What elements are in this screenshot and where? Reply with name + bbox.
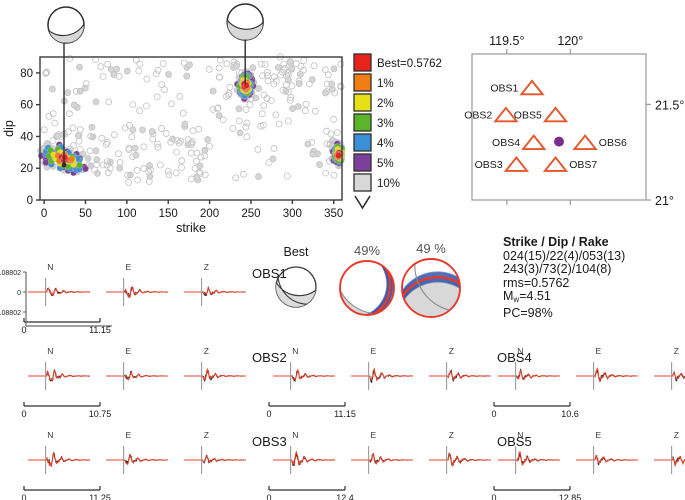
misfit-point — [188, 176, 194, 182]
waveform-station-obs1: NEZOBS1011.15 — [21, 262, 286, 335]
x-tick-label: 250 — [241, 208, 260, 220]
misfit-point — [170, 136, 176, 142]
amplitude-tick-label: 0.08802 — [0, 270, 21, 277]
time-zero-label: 0 — [266, 493, 271, 500]
misfit-point — [241, 171, 247, 177]
misfit-point — [49, 86, 55, 92]
misfit-point — [165, 168, 171, 174]
grid-search-plot: 020406080050100150200250300350strikedip — [0, 0, 360, 232]
time-zero-label: 0 — [266, 409, 271, 419]
misfit-point — [216, 113, 222, 119]
waveform-station-obs3: NEZOBS3011.25 — [21, 430, 286, 500]
misfit-point — [312, 108, 318, 114]
waveform-observed — [576, 369, 638, 382]
component-label-n: N — [517, 346, 523, 356]
time-zero-label: 0 — [491, 409, 496, 419]
misfit-point — [194, 174, 200, 180]
station-label-obs5: OBS5 — [514, 109, 542, 121]
station-name-label: OBS1 — [252, 266, 287, 281]
legend-label: 2% — [377, 98, 394, 110]
misfit-point — [317, 162, 323, 168]
misfit-point — [116, 151, 122, 157]
misfit-point — [256, 174, 262, 180]
grid-search-panel: 020406080050100150200250300350strikedip — [0, 0, 360, 232]
misfit-point — [126, 179, 132, 185]
misfit-point — [271, 145, 277, 151]
misfit-point — [217, 57, 223, 63]
misfit-point — [52, 120, 58, 126]
x-tick-label: 100 — [117, 208, 136, 220]
y-tick-label: 60 — [20, 100, 33, 112]
misfit-point — [93, 99, 99, 105]
legend-label: 4% — [377, 138, 394, 150]
misfit-point — [130, 127, 136, 133]
component-label-z: Z — [449, 430, 454, 440]
misfit-point-colored — [88, 163, 94, 169]
misfit-point — [295, 104, 301, 110]
component-label-n: N — [47, 346, 53, 356]
misfit-point — [153, 71, 159, 77]
misfit-point-colored — [69, 156, 75, 162]
time-max-label: 11.15 — [334, 409, 356, 419]
waveform-station-obs2: NEZOBS2010.75 — [21, 346, 286, 419]
x-tick-label: 300 — [283, 208, 302, 220]
misfit-point — [309, 77, 315, 83]
misfit-point — [141, 165, 147, 171]
time-max-label: 10.75 — [89, 409, 112, 419]
misfit-point-colored — [43, 160, 49, 166]
legend-label: 5% — [377, 158, 394, 170]
legend-label: 1% — [377, 78, 394, 90]
misfit-point — [116, 73, 122, 79]
misfit-point — [331, 116, 337, 122]
misfit-point — [157, 162, 163, 168]
misfit-point — [124, 68, 130, 74]
misfit-point — [160, 61, 166, 67]
station-label-obs2: OBS2 — [464, 109, 492, 121]
misfit-point — [89, 124, 95, 130]
misfit-point — [169, 101, 175, 107]
misfit-point — [289, 66, 295, 72]
y-tick-label: 20 — [20, 163, 33, 175]
legend-swatch — [354, 154, 371, 171]
component-label-e: E — [125, 262, 131, 272]
misfit-point — [166, 71, 172, 77]
misfit-point — [325, 72, 331, 78]
y-axis-label: dip — [2, 120, 16, 137]
misfit-point — [117, 159, 123, 165]
waveform-grid: NEZOBS1011.15NEZOBS2010.75NEZOBS3011.25N… — [0, 248, 685, 500]
misfit-point — [133, 152, 139, 158]
y-tick-label: 0 — [27, 195, 33, 207]
misfit-point — [216, 65, 222, 71]
waveform-observed — [576, 455, 638, 463]
misfit-point — [93, 148, 99, 154]
waveform-observed — [654, 373, 685, 380]
station-label-obs4: OBS4 — [492, 137, 520, 149]
waveform-observed — [273, 452, 335, 466]
misfit-point — [205, 137, 211, 143]
time-max-label: 12.85 — [559, 493, 582, 500]
component-label-e: E — [370, 346, 376, 356]
callout-anchor — [62, 163, 67, 168]
misfit-point — [154, 94, 160, 100]
waveform-observed — [273, 370, 335, 380]
misfit-point — [323, 90, 329, 96]
y-tick-label: 80 — [20, 68, 33, 80]
misfit-point — [140, 127, 146, 133]
misfit-point — [196, 126, 202, 132]
misfit-point — [324, 128, 330, 134]
misfit-point-colored — [82, 166, 88, 172]
misfit-point — [50, 138, 56, 144]
map-lat-label: 21° — [655, 194, 674, 208]
y-tick-label: 40 — [20, 131, 33, 143]
waveform-observed — [498, 452, 560, 465]
time-zero-label: 0 — [491, 493, 496, 500]
misfit-point — [87, 148, 93, 154]
component-label-n: N — [47, 430, 53, 440]
misfit-point-colored — [85, 155, 91, 161]
misfit-point — [250, 65, 256, 71]
misfit-point — [273, 112, 279, 118]
misfit-point — [137, 108, 143, 114]
waveform-observed — [28, 288, 90, 295]
misfit-point — [132, 145, 138, 151]
component-label-e: E — [125, 430, 131, 440]
misfit-point — [149, 129, 155, 135]
waveform-observed — [498, 371, 560, 380]
misfit-point — [192, 165, 198, 171]
station-label-obs3: OBS3 — [475, 159, 503, 171]
component-label-e: E — [595, 430, 601, 440]
misfit-point — [331, 66, 337, 72]
misfit-point — [187, 62, 193, 68]
waveform-observed — [351, 454, 413, 464]
beachball-callout-right — [227, 4, 263, 40]
misfit-point — [303, 101, 309, 107]
misfit-point — [106, 99, 112, 105]
misfit-point — [117, 165, 123, 171]
misfit-point — [105, 61, 111, 67]
misfit-point — [173, 170, 179, 176]
misfit-point — [163, 131, 169, 137]
map-lon-label: 119.5° — [489, 34, 524, 48]
legend-swatch — [354, 94, 371, 111]
waveform-observed — [184, 456, 246, 462]
misfit-point — [243, 124, 249, 130]
misfit-point — [136, 68, 142, 74]
time-zero-label: 0 — [21, 409, 26, 419]
misfit-point — [301, 58, 307, 64]
misfit-point — [179, 158, 185, 164]
time-max-label: 11.25 — [89, 493, 111, 500]
time-zero-label: 0 — [21, 493, 26, 500]
misfit-point — [270, 156, 276, 162]
misfit-point — [284, 173, 290, 179]
misfit-point — [65, 90, 71, 96]
misfit-point-colored — [243, 82, 249, 88]
misfit-point — [334, 129, 340, 135]
misfit-point — [147, 173, 153, 179]
misfit-point — [182, 121, 188, 127]
misfit-point — [184, 73, 190, 79]
misfit-point — [302, 108, 308, 114]
misfit-point — [233, 175, 239, 181]
component-label-z: Z — [204, 262, 209, 272]
misfit-point — [331, 172, 337, 178]
misfit-point — [236, 118, 242, 124]
component-label-e: E — [595, 346, 601, 356]
x-tick-label: 200 — [200, 208, 219, 220]
misfit-point — [287, 59, 293, 65]
map-frame — [472, 54, 646, 200]
misfit-point — [243, 107, 249, 113]
misfit-point — [311, 63, 317, 69]
waveform-observed — [429, 454, 491, 466]
legend-swatch — [354, 114, 371, 131]
misfit-point — [75, 133, 81, 139]
waveform-observed — [351, 368, 413, 380]
waveform-synthetic — [498, 453, 560, 464]
legend-swatches: Best=0.57621%2%3%4%5%10% — [352, 50, 452, 220]
amplitude-tick-label: 0 — [17, 290, 21, 297]
misfit-point — [216, 74, 222, 80]
misfit-point — [66, 111, 72, 117]
component-label-z: Z — [204, 346, 209, 356]
legend-swatch — [354, 174, 371, 191]
component-label-z: Z — [674, 346, 679, 356]
misfit-point — [285, 118, 291, 124]
misfit-point — [177, 93, 183, 99]
component-label-n: N — [47, 262, 53, 272]
misfit-point — [296, 81, 302, 87]
legend-label: 3% — [377, 118, 394, 130]
misfit-point — [230, 125, 236, 131]
misfit-legend: Best=0.57621%2%3%4%5%10% — [352, 50, 452, 220]
component-label-e: E — [125, 346, 131, 356]
waveform-station-obs5: NEZOBS5012.4 — [266, 430, 531, 500]
component-label-z: Z — [674, 430, 679, 440]
misfit-point — [188, 150, 194, 156]
legend-label: 10% — [377, 178, 400, 190]
misfit-point — [60, 132, 66, 138]
misfit-point-colored — [62, 154, 68, 160]
map-lat-label: 21.5° — [655, 98, 684, 112]
x-tick-label: 50 — [79, 208, 92, 220]
misfit-point — [236, 106, 242, 112]
misfit-point — [111, 132, 117, 138]
misfit-point — [141, 144, 147, 150]
misfit-point — [77, 64, 83, 70]
misfit-point — [233, 63, 239, 69]
misfit-point — [71, 102, 77, 108]
misfit-point — [207, 143, 213, 149]
legend-swatch — [354, 54, 371, 71]
misfit-point — [114, 66, 120, 72]
waveform-observed — [654, 457, 685, 466]
misfit-point — [276, 121, 282, 127]
time-max-label: 10.6 — [561, 409, 579, 419]
station-map-panel: 119.5°120°21.5°21°OBS1OBS2OBS5OBS4OBS6OB… — [458, 32, 683, 227]
misfit-point — [275, 65, 281, 71]
misfit-point-colored — [77, 162, 83, 168]
x-tick-label: 350 — [324, 208, 343, 220]
misfit-point — [237, 130, 243, 136]
x-tick-label: 0 — [41, 208, 47, 220]
station-name-label: OBS3 — [252, 434, 287, 449]
misfit-point — [122, 125, 128, 131]
misfit-point — [261, 103, 267, 109]
misfit-point — [77, 127, 83, 133]
misfit-point — [323, 170, 329, 176]
misfit-point — [210, 88, 216, 94]
component-label-n: N — [292, 346, 298, 356]
misfit-point — [71, 143, 77, 149]
legend-label: Best=0.5762 — [377, 58, 442, 70]
misfit-point — [198, 154, 204, 160]
station-map: 119.5°120°21.5°21°OBS1OBS2OBS5OBS4OBS6OB… — [458, 32, 683, 227]
station-label-obs7: OBS7 — [569, 159, 597, 171]
component-label-z: Z — [449, 346, 454, 356]
misfit-point — [98, 64, 104, 70]
misfit-point — [290, 106, 296, 112]
amplitude-axis: 0.088020−0.08802 — [0, 270, 112, 326]
waveform-observed — [106, 287, 168, 297]
misfit-point — [206, 66, 212, 72]
waveform-panels: NEZOBS1011.15NEZOBS2010.75NEZOBS3011.25N… — [0, 248, 685, 500]
misfit-point — [190, 128, 196, 134]
misfit-point — [137, 61, 143, 67]
misfit-point — [162, 87, 168, 93]
waveform-observed — [106, 373, 168, 380]
misfit-point — [100, 74, 106, 80]
misfit-point — [224, 61, 230, 67]
misfit-point — [259, 111, 265, 117]
misfit-point — [297, 71, 303, 77]
component-label-n: N — [292, 430, 298, 440]
beachball-callout-left — [48, 7, 84, 43]
misfit-point — [135, 177, 141, 183]
component-label-n: N — [517, 430, 523, 440]
misfit-point — [255, 146, 261, 152]
misfit-point — [289, 83, 295, 89]
misfit-point — [134, 167, 140, 173]
misfit-point — [104, 139, 110, 145]
waveform-observed — [429, 371, 491, 379]
chevron-down-icon — [355, 196, 370, 208]
misfit-point — [258, 61, 264, 67]
x-axis-label: strike — [176, 221, 206, 235]
misfit-point — [329, 81, 335, 87]
misfit-point — [202, 153, 208, 159]
misfit-point — [338, 61, 344, 67]
waveform-observed — [184, 370, 246, 381]
waveform-synthetic — [576, 370, 638, 381]
station-name-label: OBS5 — [497, 434, 532, 449]
misfit-point — [306, 81, 312, 87]
misfit-point — [244, 134, 250, 140]
misfit-point — [130, 102, 136, 108]
misfit-point — [310, 151, 316, 157]
time-max-label: 12.4 — [336, 493, 354, 500]
misfit-point-colored — [335, 153, 341, 159]
misfit-point — [70, 125, 76, 131]
x-tick-label: 150 — [159, 208, 178, 220]
misfit-point — [99, 135, 105, 141]
misfit-point — [179, 165, 185, 171]
station-name-label: OBS4 — [497, 350, 532, 365]
misfit-point — [305, 141, 311, 147]
misfit-point — [144, 76, 150, 82]
waveform-observed — [184, 288, 246, 295]
misfit-point — [100, 162, 106, 168]
time-zero-label: 0 — [21, 325, 26, 335]
misfit-point — [227, 84, 233, 90]
map-lon-label: 120° — [557, 34, 583, 48]
station-label-obs6: OBS6 — [599, 137, 627, 149]
legend-swatch — [354, 134, 371, 151]
epicenter-marker[interactable] — [554, 137, 564, 147]
misfit-point — [328, 131, 334, 137]
station-label-obs1: OBS1 — [490, 82, 518, 94]
amplitude-tick-label: −0.08802 — [0, 310, 21, 317]
waveform-synthetic — [28, 453, 90, 466]
misfit-point — [247, 102, 253, 108]
component-label-z: Z — [204, 430, 209, 440]
misfit-point — [256, 86, 262, 92]
misfit-point — [155, 67, 161, 73]
misfit-point — [133, 57, 139, 63]
misfit-point — [143, 103, 149, 109]
misfit-point — [129, 134, 135, 140]
misfit-point — [244, 120, 250, 126]
misfit-point — [41, 127, 47, 133]
misfit-point — [76, 138, 82, 144]
legend-swatch — [354, 74, 371, 91]
grid-search-callouts — [48, 4, 263, 167]
misfit-point — [180, 110, 186, 116]
component-label-e: E — [370, 430, 376, 440]
station-name-label: OBS2 — [252, 350, 287, 365]
misfit-point — [159, 125, 165, 131]
misfit-point — [174, 149, 180, 155]
